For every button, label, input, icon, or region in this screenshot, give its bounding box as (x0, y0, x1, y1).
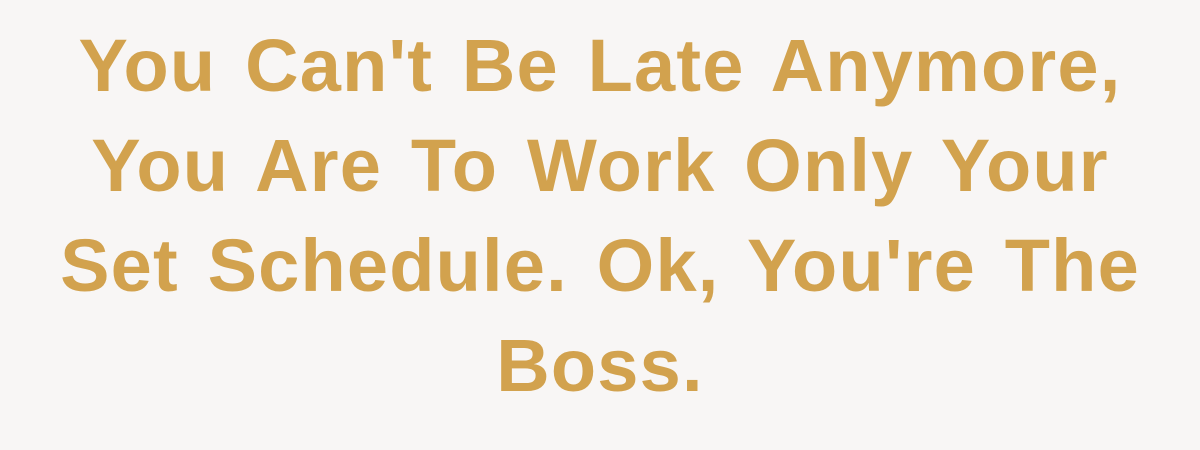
quote-line-3: Set Schedule. Ok, You're The (30, 216, 1170, 316)
quote-line-4: Boss. (30, 316, 1170, 416)
quote-line-1: You Can't Be Late Anymore, (30, 16, 1170, 116)
quote-heading: You Can't Be Late Anymore, You Are To Wo… (30, 16, 1170, 416)
quote-canvas: You Can't Be Late Anymore, You Are To Wo… (0, 0, 1200, 450)
quote-line-2: You Are To Work Only Your (30, 116, 1170, 216)
